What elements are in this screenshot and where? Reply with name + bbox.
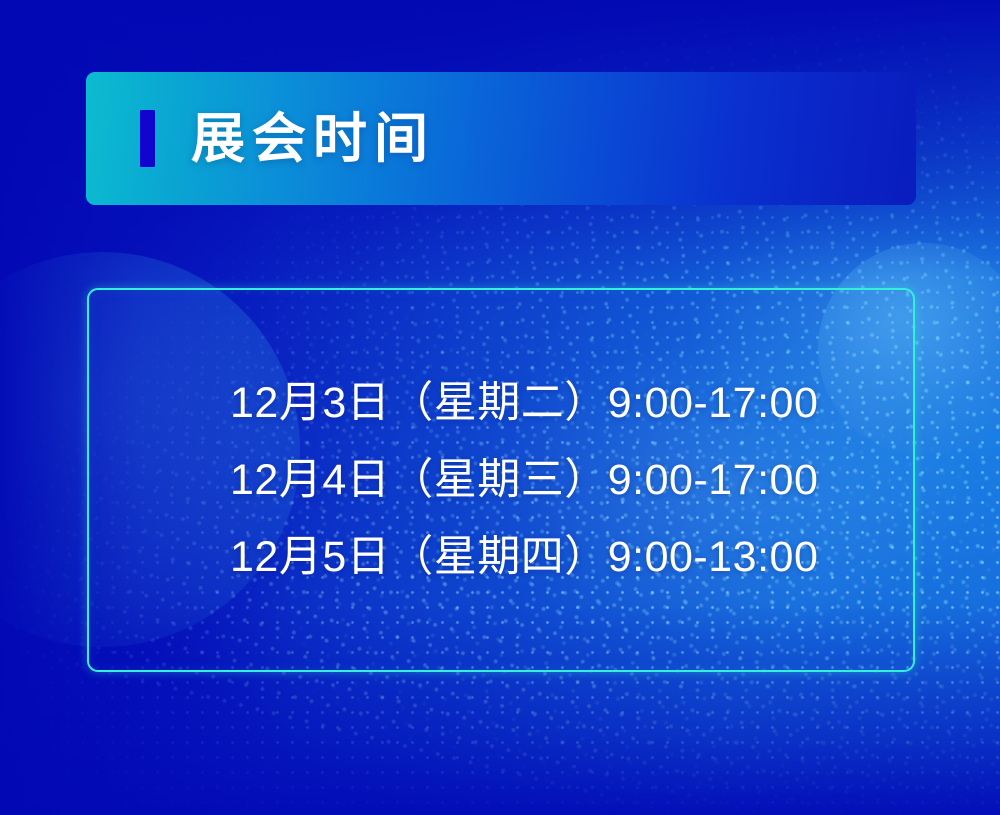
schedule-row: 12月5日（星期四）9:00-13:00 [230,519,913,596]
poster-canvas: 展会时间 12月3日（星期二）9:00-17:00 12月4日（星期三）9:00… [0,0,1000,815]
schedule-card: 12月3日（星期二）9:00-17:00 12月4日（星期三）9:00-17:0… [87,288,915,672]
schedule-row: 12月3日（星期二）9:00-17:00 [230,365,913,442]
header-accent-bar [140,110,155,167]
schedule-row: 12月4日（星期三）9:00-17:00 [230,442,913,519]
section-header-banner: 展会时间 [86,72,916,205]
schedule-list: 12月3日（星期二）9:00-17:00 12月4日（星期三）9:00-17:0… [89,365,913,596]
page-title: 展会时间 [191,112,435,166]
